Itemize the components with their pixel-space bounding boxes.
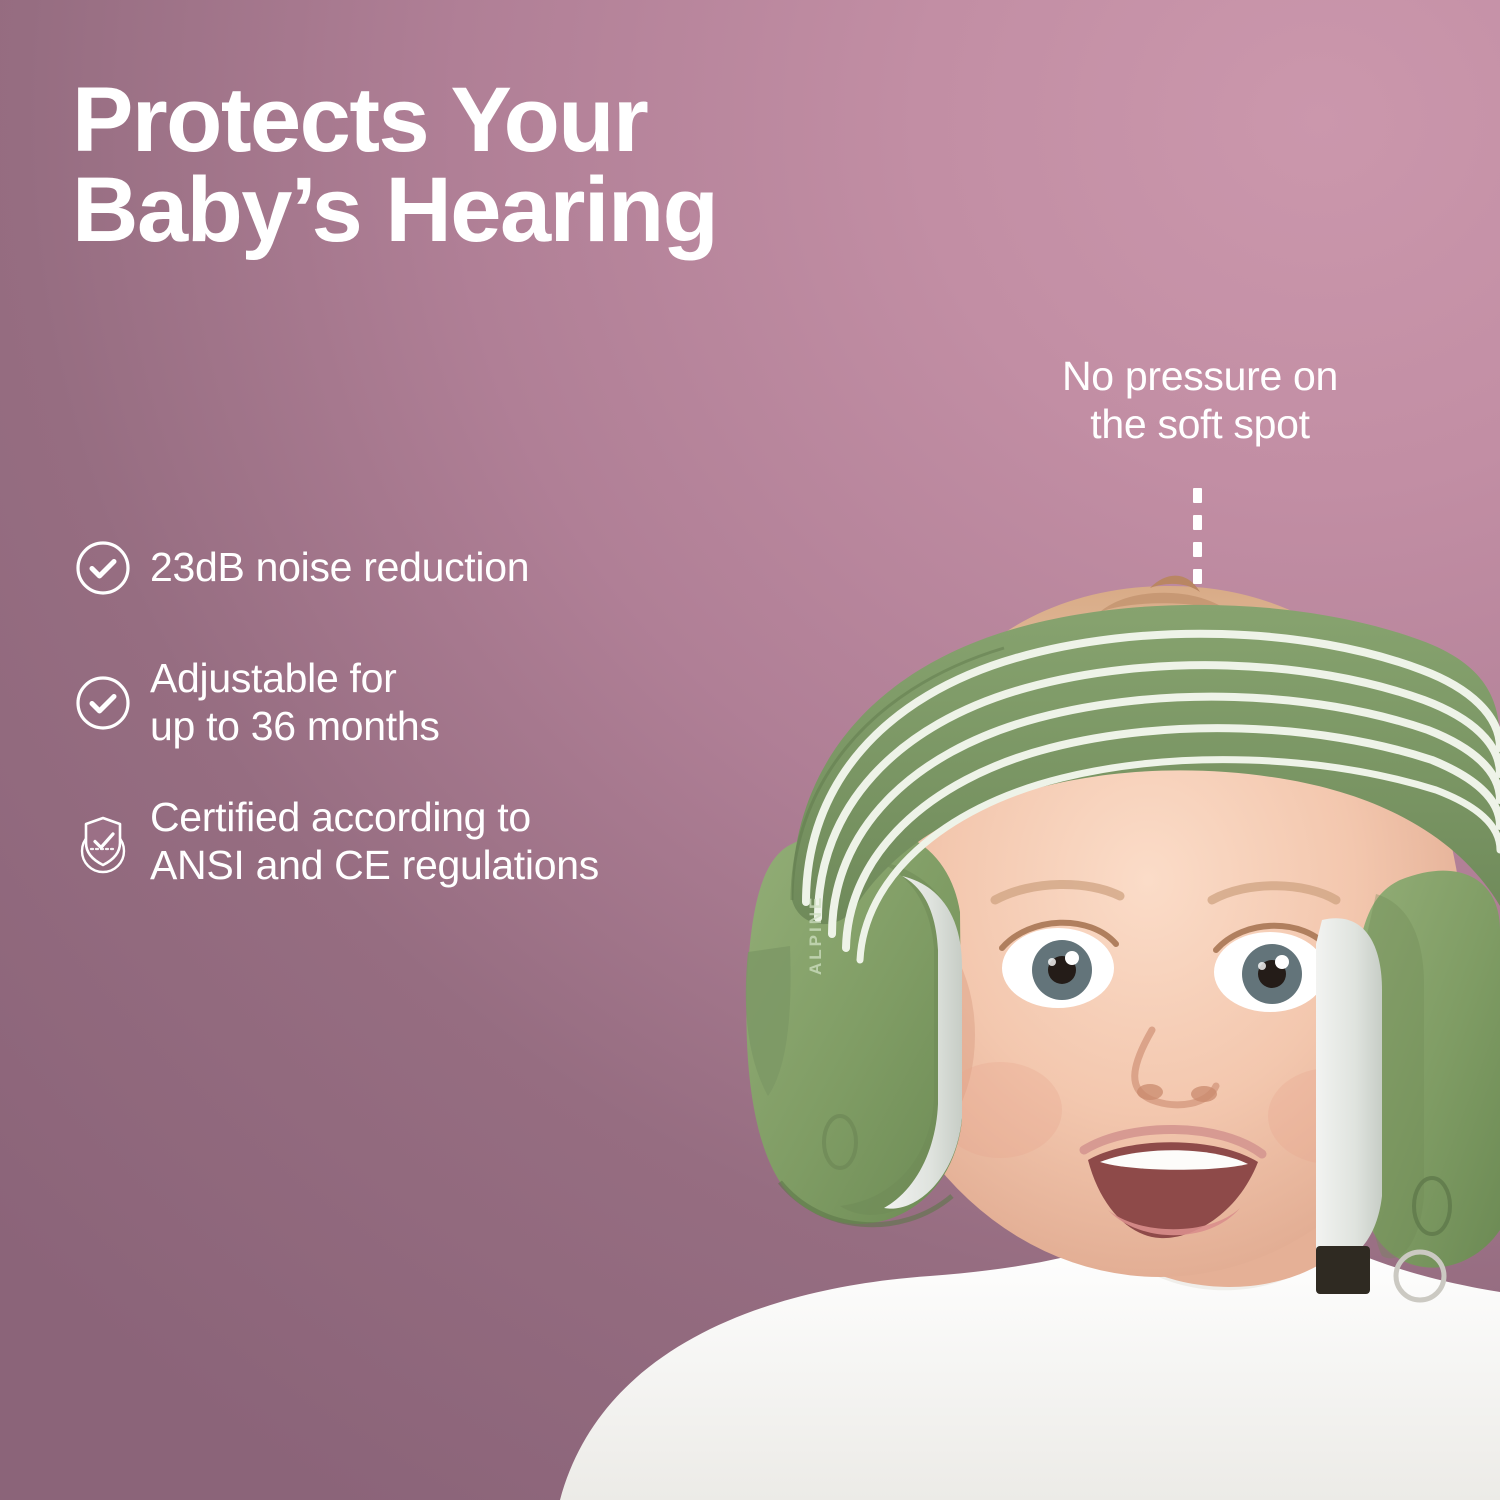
feature-label: Certified according to ANSI and CE regul… [150,794,599,889]
promo-banner: ALPINE Protects Your Baby’s Hearing 23dB… [0,0,1500,1500]
check-circle-icon [66,539,140,597]
dashed-leader-line-icon [1193,488,1202,583]
feature-item-certified: Certified according to ANSI and CE regul… [66,794,806,889]
feature-item-noise-reduction: 23dB noise reduction [66,525,806,611]
shield-check-icon [66,809,140,875]
feature-label: Adjustable for up to 36 months [150,655,440,750]
feature-label: 23dB noise reduction [150,544,529,592]
feature-list: 23dB noise reduction Adjustable for up t… [66,525,806,889]
check-circle-icon [66,674,140,732]
alpine-brand-mark: ALPINE [806,895,826,975]
page-title: Protects Your Baby’s Hearing [72,75,952,255]
callout-soft-spot: No pressure on the soft spot [1000,352,1400,449]
feature-item-adjustable: Adjustable for up to 36 months [66,655,806,750]
